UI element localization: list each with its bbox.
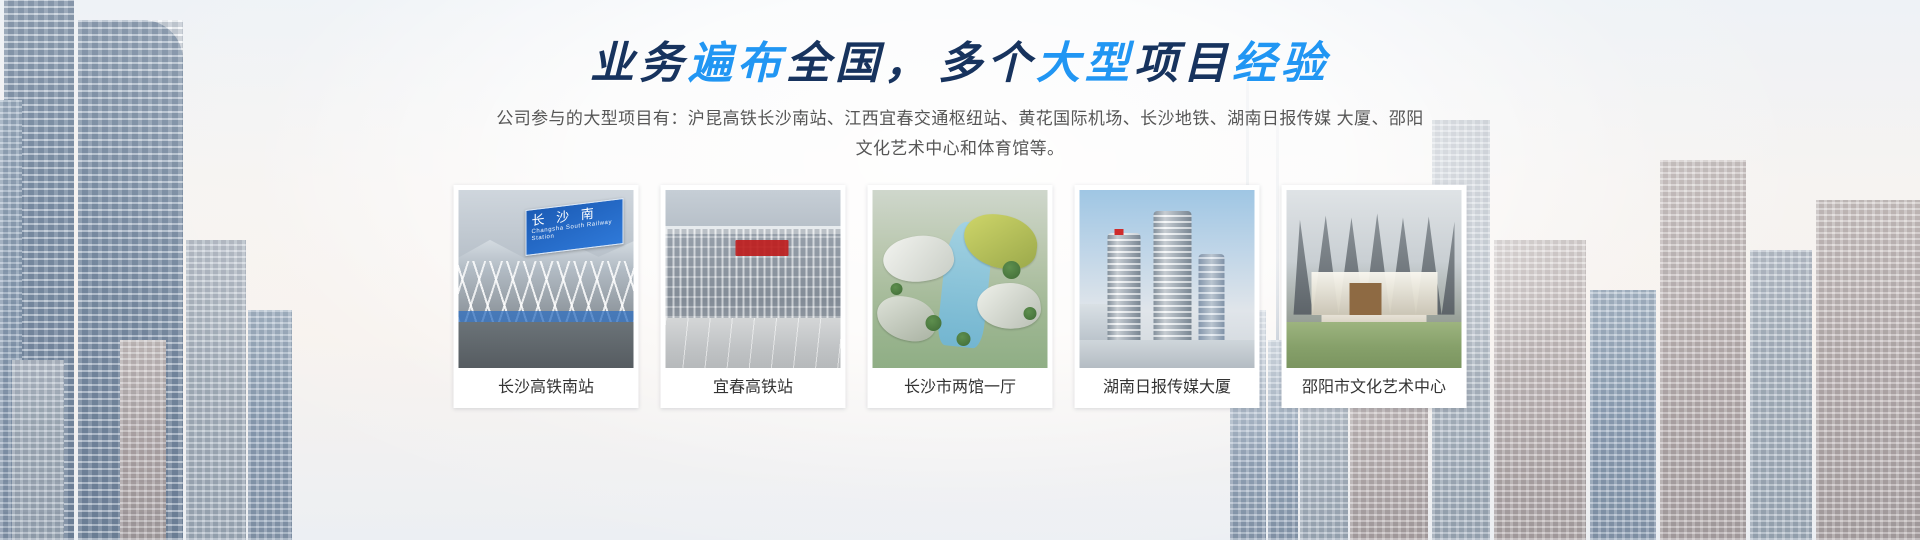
headline-segment-3: 全国 [786,39,884,88]
project-caption: 邵阳市文化艺术中心 [1282,368,1467,408]
station-sign: 长 沙 南 Changsha South Railway Station [525,198,623,256]
project-thumbnail-changsha-two-halls-one-theatre [873,190,1048,368]
headline-segment-4: ， [884,39,938,88]
rooftop-flag-icon [1115,229,1124,235]
project-caption: 宜春高铁站 [661,368,846,408]
project-card[interactable]: 宜春高铁站 [661,185,846,408]
headline-segment-6: 大型 [1036,39,1134,88]
page-subtitle: 公司参与的大型项目有：沪昆高铁长沙南站、江西宜春交通枢纽站、黄花国际机场、长沙地… [495,104,1425,164]
subtitle-line-1: 公司参与的大型项目有：沪昆高铁长沙南站、江西宜春交通枢纽站、黄花国际机场、长沙地… [496,109,1331,128]
project-caption: 湖南日报传媒大厦 [1075,368,1260,408]
banner-content: 业务遍布全国，多个大型项目经验 公司参与的大型项目有：沪昆高铁长沙南站、江西宜春… [0,0,1920,540]
project-thumbnail-hunan-daily-media-tower [1080,190,1255,368]
project-thumbnail-changsha-south-railway-station: 长 沙 南 Changsha South Railway Station [459,190,634,368]
headline-segment-1: 业务 [590,39,688,88]
project-caption: 长沙市两馆一厅 [868,368,1053,408]
page-title: 业务遍布全国，多个大型项目经验 [0,38,1920,90]
project-thumbnail-yichun-high-speed-railway-station [666,190,841,368]
headline-segment-8: 经验 [1232,39,1330,88]
project-card-list: 长 沙 南 Changsha South Railway Station 长沙高… [454,185,1467,408]
project-thumbnail-shaoyang-culture-arts-centre [1287,190,1462,368]
project-card[interactable]: 长 沙 南 Changsha South Railway Station 长沙高… [454,185,639,408]
project-card[interactable]: 湖南日报传媒大厦 [1075,185,1260,408]
project-card[interactable]: 长沙市两馆一厅 [868,185,1053,408]
headline-segment-5: 多个 [938,39,1036,88]
project-card[interactable]: 邵阳市文化艺术中心 [1282,185,1467,408]
headline-segment-7: 项目 [1134,39,1232,88]
company-projects-banner: 业务遍布全国，多个大型项目经验 公司参与的大型项目有：沪昆高铁长沙南站、江西宜春… [0,0,1920,540]
project-caption: 长沙高铁南站 [454,368,639,408]
headline-segment-2: 遍布 [688,39,786,88]
